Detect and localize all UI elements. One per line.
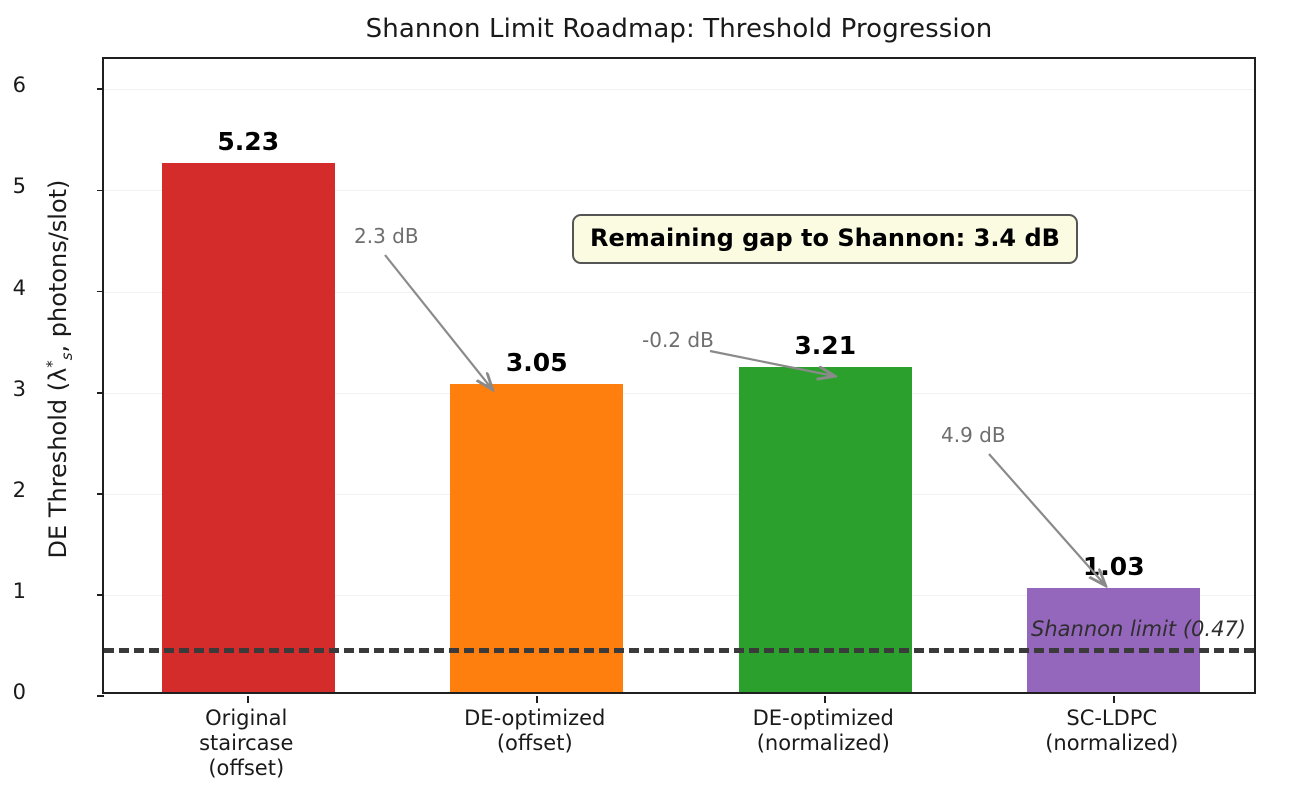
y-axis-tick	[97, 291, 104, 293]
bar-value-label-1: 3.05	[427, 348, 647, 377]
y-axis-tick-label: 4	[0, 276, 26, 300]
y-axis-tick	[97, 493, 104, 495]
x-axis-tick-label-3: SC-LDPC(normalized)	[972, 706, 1252, 756]
x-axis-tick-label-line: DE-optimized	[395, 706, 675, 731]
bar-1[interactable]	[450, 384, 623, 692]
y-axis-tick-label: 2	[0, 478, 26, 502]
x-axis-tick-label-line: (offset)	[395, 731, 675, 756]
x-axis-tick	[824, 696, 826, 703]
y-axis-label-prefix: DE Threshold (	[44, 382, 72, 559]
x-axis-tick-label-line: (offset)	[106, 756, 386, 781]
x-axis-tick-label-0: Originalstaircase(offset)	[106, 706, 386, 781]
chart-figure: Shannon Limit Roadmap: Threshold Progres…	[0, 0, 1292, 807]
x-axis-tick-label-line: (normalized)	[972, 731, 1252, 756]
y-axis-tick	[97, 392, 104, 394]
y-axis-tick	[97, 88, 104, 90]
x-axis-tick-label-line: staircase	[106, 731, 386, 756]
x-axis-tick	[1113, 696, 1115, 703]
lambda-subscript: s	[58, 353, 76, 361]
bar-0[interactable]	[162, 163, 335, 692]
x-axis-tick-label-2: DE-optimized(normalized)	[683, 706, 963, 756]
y-axis-label: DE Threshold (λ*s, photons/slot)	[44, 49, 72, 689]
y-axis-tick-label: 3	[0, 377, 26, 401]
shannon-limit-line	[104, 648, 1254, 653]
bar-2[interactable]	[739, 367, 912, 692]
gridline	[104, 89, 1254, 90]
y-axis-tick-label: 0	[0, 680, 26, 704]
plot-area: 5.233.053.211.03 Shannon limit (0.47) 2.…	[102, 57, 1256, 694]
bar-value-label-3: 1.03	[1004, 552, 1224, 581]
x-axis-tick-label-line: SC-LDPC	[972, 706, 1252, 731]
x-axis-tick-label-line: Original	[106, 706, 386, 731]
lambda-superscript: *	[43, 360, 61, 367]
y-axis-tick-label: 5	[0, 174, 26, 198]
bar-value-label-2: 3.21	[715, 331, 935, 360]
annotation-label-2: 4.9 dB	[941, 423, 1006, 447]
y-axis-tick-label: 6	[0, 73, 26, 97]
bar-value-label-0: 5.23	[138, 127, 358, 156]
y-axis-tick	[97, 594, 104, 596]
annotation-label-0: 2.3 dB	[354, 224, 419, 248]
y-axis-tick	[97, 190, 104, 192]
x-axis-tick	[247, 696, 249, 703]
x-axis-tick	[536, 696, 538, 703]
shannon-limit-label: Shannon limit (0.47)	[1031, 617, 1246, 641]
page-title: Shannon Limit Roadmap: Threshold Progres…	[102, 14, 1256, 44]
x-axis-tick-label-1: DE-optimized(offset)	[395, 706, 675, 756]
remaining-gap-callout: Remaining gap to Shannon: 3.4 dB	[572, 214, 1078, 264]
x-axis-tick-label-line: DE-optimized	[683, 706, 963, 731]
annotation-label-1: -0.2 dB	[642, 328, 714, 352]
y-axis-tick-label: 1	[0, 579, 26, 603]
x-axis-tick-label-line: (normalized)	[683, 731, 963, 756]
lambda-symbol: λ	[44, 368, 72, 382]
y-axis-label-suffix: , photons/slot)	[44, 180, 72, 353]
y-axis-tick	[97, 695, 104, 697]
